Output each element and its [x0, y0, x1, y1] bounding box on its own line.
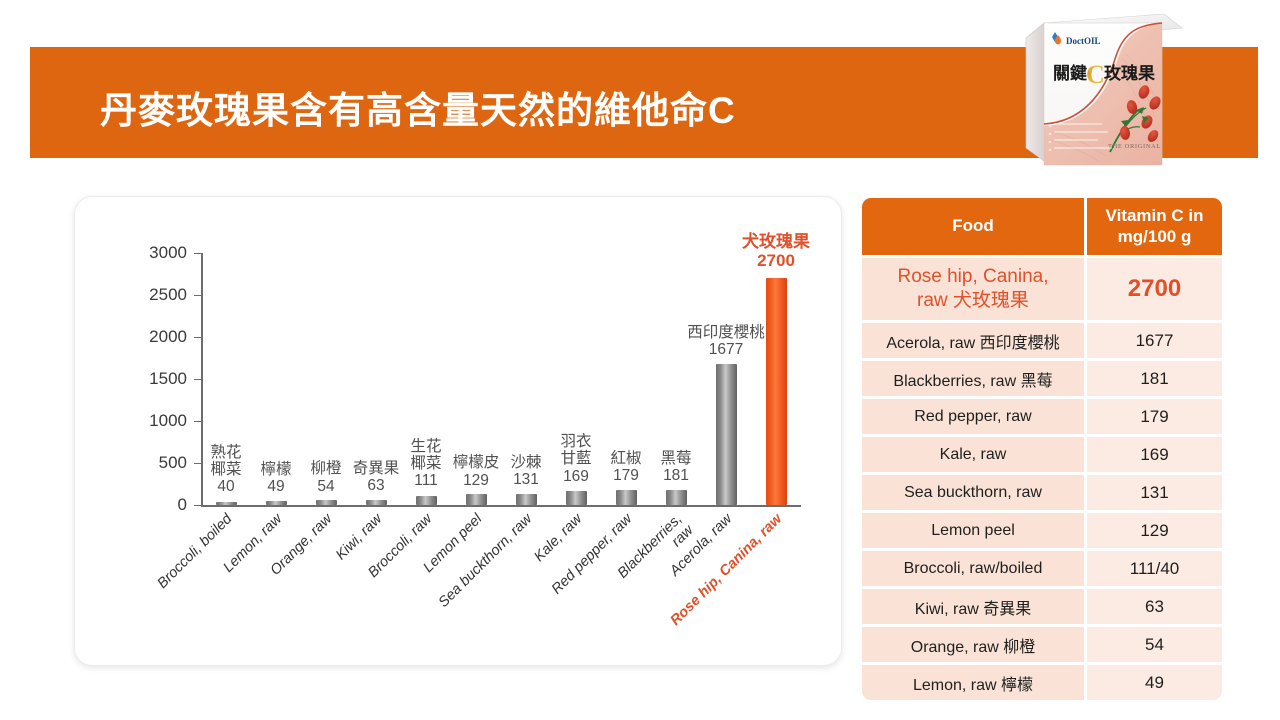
svg-text:玫瑰果: 玫瑰果 — [1104, 63, 1155, 83]
bar — [216, 502, 237, 505]
table-cell-value: 179 — [1087, 399, 1222, 434]
table-cell-food: Red pepper, raw — [862, 399, 1084, 434]
table-cell-value: 111/40 — [1087, 551, 1222, 586]
table-cell-value: 63 — [1087, 589, 1222, 624]
table-cell-food: Broccoli, raw/boiled — [862, 551, 1084, 586]
bar-highlight — [766, 278, 787, 505]
y-axis-tick-mark — [194, 505, 201, 506]
table-cell-food: Orange, raw 柳橙 — [862, 627, 1084, 662]
bar — [416, 496, 437, 505]
table-row: Orange, raw 柳橙54 — [862, 627, 1222, 662]
table-body: Rose hip, Canina,raw 犬玫瑰果2700Acerola, ra… — [862, 258, 1222, 700]
table-row: Acerola, raw 西印度櫻桃1677 — [862, 323, 1222, 358]
svg-text:DoctOIL: DoctOIL — [1066, 36, 1101, 46]
table-cell-value: 49 — [1087, 665, 1222, 700]
table-row: Kiwi, raw 奇異果63 — [862, 589, 1222, 624]
table-header-vitaminc: Vitamin C inmg/100 g — [1087, 198, 1222, 255]
bar — [316, 500, 337, 505]
table-cell-value: 129 — [1087, 513, 1222, 548]
table-cell-food: Acerola, raw 西印度櫻桃 — [862, 323, 1084, 358]
y-axis-tick-label: 2000 — [125, 327, 187, 347]
table-row: Red pepper, raw179 — [862, 399, 1222, 434]
bar-chart: 050010001500200025003000熟花椰菜40Broccoli, … — [75, 197, 843, 667]
y-axis-tick-mark — [194, 421, 201, 422]
table-row: Blackberries, raw 黑莓181 — [862, 361, 1222, 396]
product-box-illustration: DoctOIL 關鍵 C 玫瑰果 THE ORIGINAL — [1022, 6, 1212, 186]
bar — [716, 364, 737, 505]
bar-data-label: 犬玫瑰果2700 — [716, 232, 836, 270]
table-cell-food: Lemon, raw 檸檬 — [862, 665, 1084, 700]
table-row: Lemon, raw 檸檬49 — [862, 665, 1222, 700]
bar — [366, 500, 387, 505]
y-axis-tick-mark — [194, 295, 201, 296]
x-axis-line — [201, 505, 801, 507]
bar — [516, 494, 537, 505]
y-axis-tick-label: 1000 — [125, 411, 187, 431]
table-cell-food: Lemon peel — [862, 513, 1084, 548]
y-axis-tick-label: 3000 — [125, 243, 187, 263]
table-row: Broccoli, raw/boiled111/40 — [862, 551, 1222, 586]
y-axis-tick-mark — [194, 337, 201, 338]
table-cell-value: 54 — [1087, 627, 1222, 662]
table-cell-food: Blackberries, raw 黑莓 — [862, 361, 1084, 396]
table-cell-food: Sea buckthorn, raw — [862, 475, 1084, 510]
vitamin-c-table: Food Vitamin C inmg/100 g Rose hip, Cani… — [862, 198, 1222, 703]
svg-text:THE ORIGINAL: THE ORIGINAL — [1108, 143, 1161, 150]
table-cell-food: Kiwi, raw 奇異果 — [862, 589, 1084, 624]
y-axis-tick-mark — [194, 379, 201, 380]
slide-root: 丹麥玫瑰果含有高含量天然的維他命C — [0, 0, 1280, 720]
bar — [666, 490, 687, 505]
bar — [566, 491, 587, 505]
table-cell-value: 181 — [1087, 361, 1222, 396]
table-row: Sea buckthorn, raw131 — [862, 475, 1222, 510]
y-axis-tick-label: 0 — [125, 495, 187, 515]
svg-text:C: C — [1086, 60, 1105, 89]
y-axis-tick-mark — [194, 253, 201, 254]
table-cell-food: Rose hip, Canina,raw 犬玫瑰果 — [862, 258, 1084, 320]
table-row: Kale, raw169 — [862, 437, 1222, 472]
product-box-image: DoctOIL 關鍵 C 玫瑰果 THE ORIGINAL — [1022, 6, 1212, 186]
bar — [266, 501, 287, 505]
bar — [616, 490, 637, 505]
page-title: 丹麥玫瑰果含有高含量天然的維他命C — [100, 92, 736, 129]
bar — [466, 494, 487, 505]
table-row: Rose hip, Canina,raw 犬玫瑰果2700 — [862, 258, 1222, 320]
table-cell-food: Kale, raw — [862, 437, 1084, 472]
chart-card: 050010001500200025003000熟花椰菜40Broccoli, … — [74, 196, 842, 666]
table-cell-value: 2700 — [1087, 258, 1222, 320]
y-axis-tick-label: 2500 — [125, 285, 187, 305]
table-header-food: Food — [862, 198, 1084, 255]
table-cell-value: 131 — [1087, 475, 1222, 510]
table-header-row: Food Vitamin C inmg/100 g — [862, 198, 1222, 255]
y-axis-tick-label: 1500 — [125, 369, 187, 389]
table-cell-value: 1677 — [1087, 323, 1222, 358]
svg-text:關鍵: 關鍵 — [1053, 63, 1087, 83]
table-row: Lemon peel129 — [862, 513, 1222, 548]
table-cell-value: 169 — [1087, 437, 1222, 472]
